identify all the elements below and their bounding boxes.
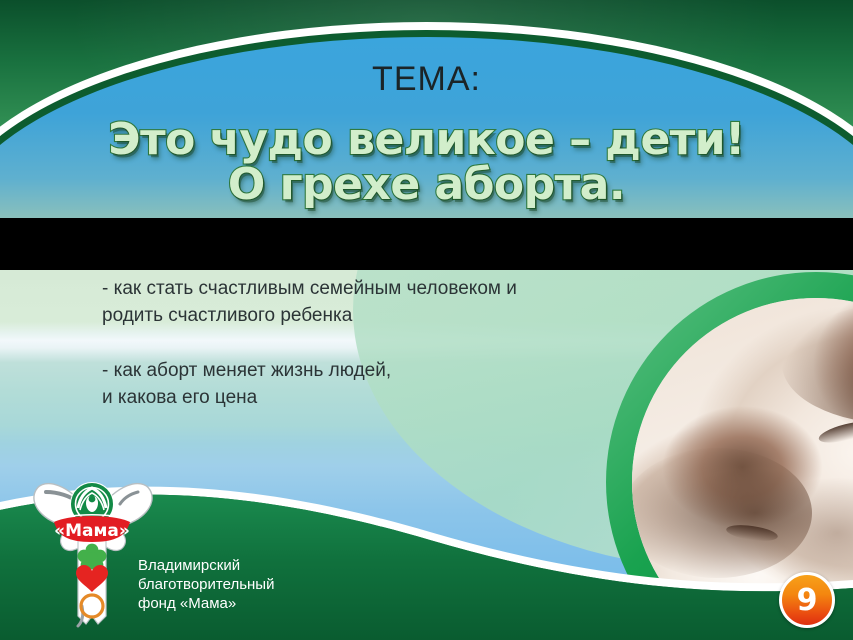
footer-line-2: благотворительный	[138, 575, 274, 594]
footer-line-3: фонд «Мама»	[138, 594, 274, 613]
page-number-badge: 9	[779, 572, 835, 628]
bullet-list: - как стать счастливым семейным человеко…	[102, 276, 622, 440]
title-line-2: О грехе аборта.	[0, 163, 853, 208]
black-separator-bar	[0, 218, 853, 270]
bullet-item-2: - как аборт меняет жизнь людей, и какова…	[102, 358, 622, 412]
bullet-2-line-2: и какова его цена	[102, 385, 622, 412]
bullet-item-1: - как стать счастливым семейным человеко…	[102, 276, 622, 330]
footer-organization-text: Владимирский благотворительный фонд «Мам…	[138, 556, 274, 614]
header-label: ТЕМА:	[0, 60, 853, 99]
bullet-2-line-1: - как аборт меняет жизнь людей,	[102, 358, 622, 385]
footer-line-1: Владимирский	[138, 556, 274, 575]
bullet-1-line-1: - как стать счастливым семейным человеко…	[102, 276, 622, 303]
presentation-slide: ТЕМА: Это чудо великое – дети! О грехе а…	[0, 0, 853, 640]
bullet-1-line-2: родить счастливого ребенка	[102, 303, 622, 330]
logo-child-head	[89, 496, 96, 503]
logo-name-text: «Мама»	[54, 521, 130, 541]
title-line-1: Это чудо великое – дети!	[0, 118, 853, 163]
slide-title: Это чудо великое – дети! О грехе аборта.	[0, 118, 853, 208]
